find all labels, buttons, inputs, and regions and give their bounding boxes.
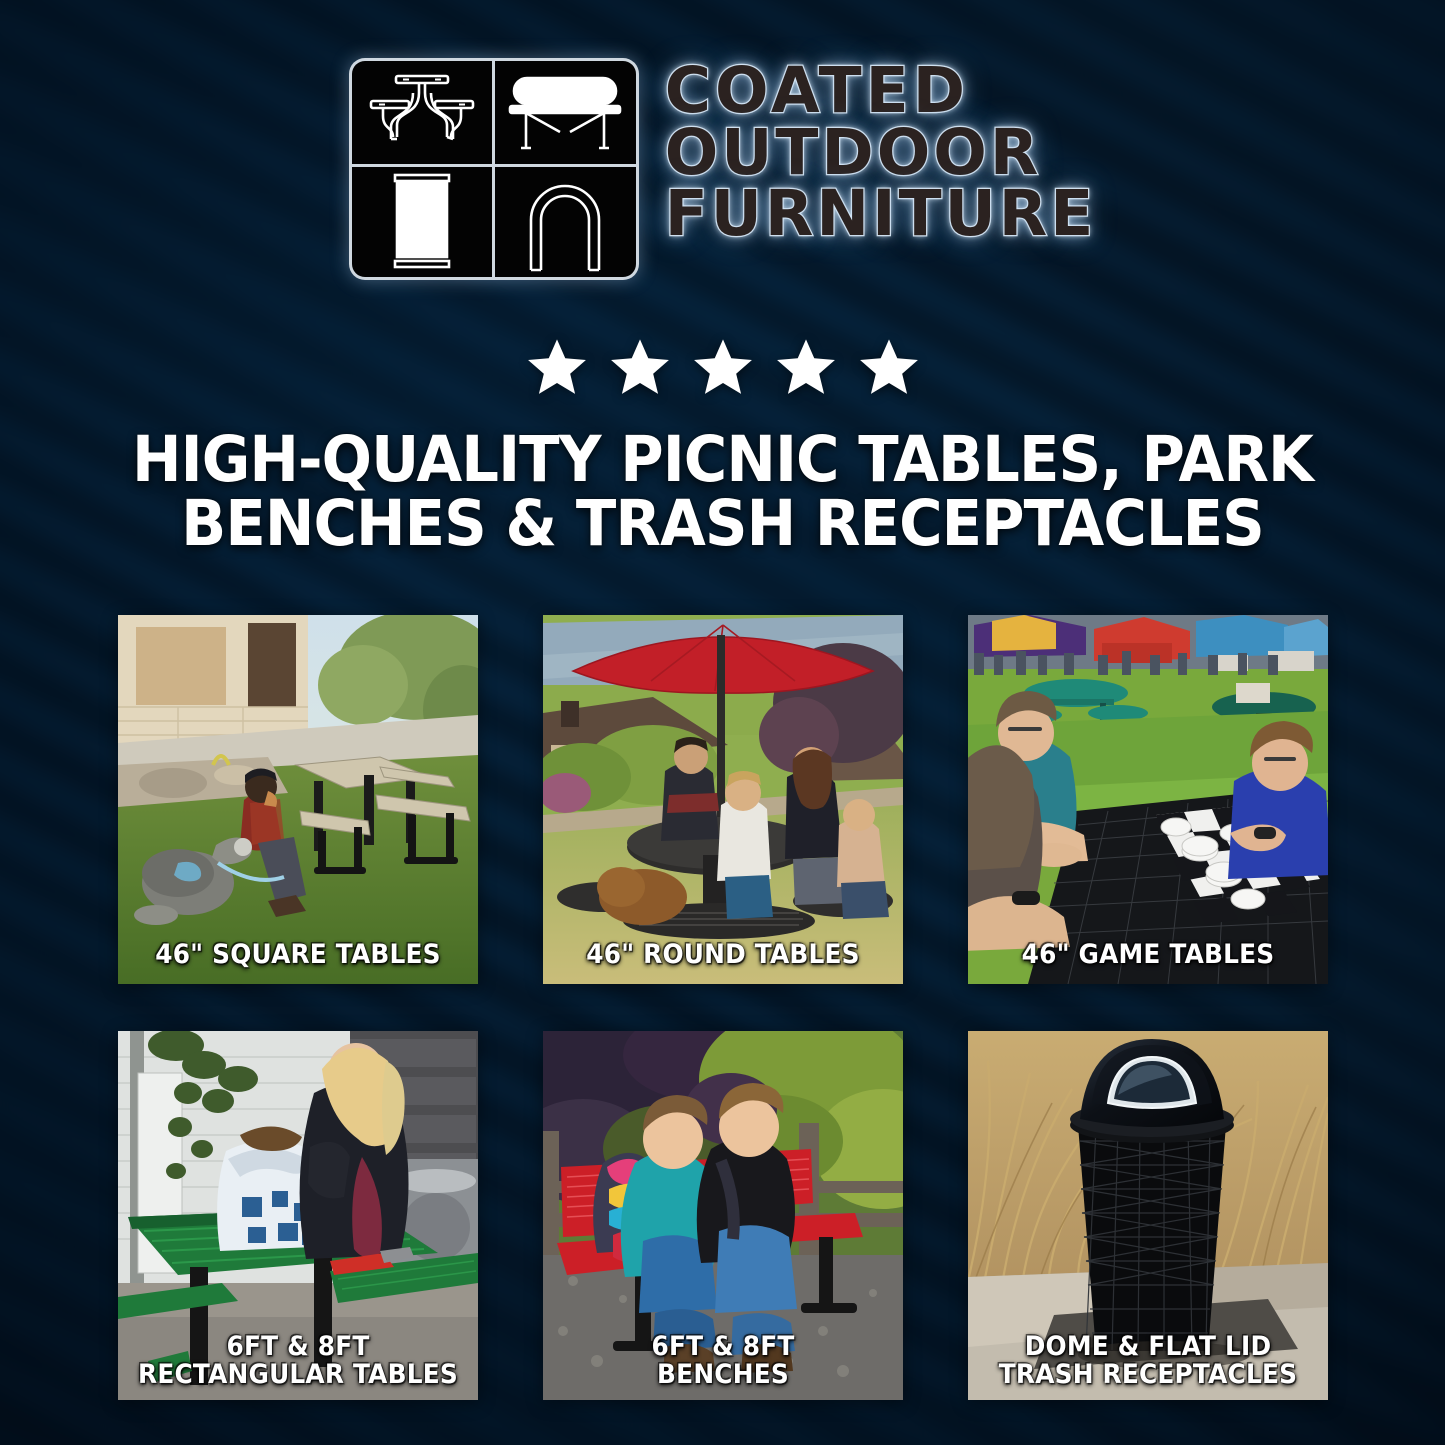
bench-icon <box>495 61 636 164</box>
brand-wordmark: COATED OUTDOOR FURNITURE <box>665 58 1097 245</box>
bike-rack-icon <box>495 167 636 277</box>
product-photo-round-tables <box>543 615 903 984</box>
headline: HIGH-QUALITY PICNIC TABLES, PARK BENCHES… <box>43 428 1401 557</box>
product-caption: 6FT & 8FT RECTANGULAR TABLES <box>132 1333 463 1390</box>
headline-line-2: BENCHES & TRASH RECEPTACLES <box>43 492 1401 556</box>
brand-line-1: COATED <box>665 60 1097 122</box>
star-icon <box>609 336 671 398</box>
trash-receptacle-icon <box>352 167 493 277</box>
caption-line-2: BENCHES <box>557 1361 888 1390</box>
caption-line-1: DOME & FLAT LID <box>982 1333 1313 1362</box>
product-caption: 46" SQUARE TABLES <box>132 941 463 970</box>
brand-header: COATED OUTDOOR FURNITURE <box>0 58 1445 280</box>
product-photo-game-tables <box>968 615 1328 984</box>
star-icon <box>775 336 837 398</box>
product-tile-round-tables[interactable]: 46" ROUND TABLES <box>543 615 903 984</box>
product-grid: 46" SQUARE TABLES <box>118 615 1327 1400</box>
caption-line-1: 46" GAME TABLES <box>982 941 1313 970</box>
brand-line-3: FURNITURE <box>665 183 1097 245</box>
caption-line-2: TRASH RECEPTACLES <box>982 1361 1313 1390</box>
product-photo-square-tables <box>118 615 478 984</box>
caption-line-1: 46" SQUARE TABLES <box>132 941 463 970</box>
caption-line-1: 46" ROUND TABLES <box>557 941 888 970</box>
product-tile-trash-receptacles[interactable]: DOME & FLAT LID TRASH RECEPTACLES <box>968 1031 1328 1400</box>
headline-line-1: HIGH-QUALITY PICNIC TABLES, PARK <box>43 428 1401 492</box>
star-icon <box>858 336 920 398</box>
product-caption: 6FT & 8FT BENCHES <box>557 1333 888 1390</box>
caption-line-1: 6FT & 8FT <box>557 1333 888 1362</box>
promo-banner: COATED OUTDOOR FURNITURE HIGH-QUALITY PI… <box>0 0 1445 1445</box>
product-tile-game-tables[interactable]: 46" GAME TABLES <box>968 615 1328 984</box>
brand-logo-mark <box>349 58 639 280</box>
product-caption: 46" GAME TABLES <box>982 941 1313 970</box>
product-tile-rectangular-tables[interactable]: 6FT & 8FT RECTANGULAR TABLES <box>118 1031 478 1400</box>
caption-line-2: RECTANGULAR TABLES <box>132 1361 463 1390</box>
star-icon <box>526 336 588 398</box>
product-tile-square-tables[interactable]: 46" SQUARE TABLES <box>118 615 478 984</box>
caption-line-1: 6FT & 8FT <box>132 1333 463 1362</box>
star-icon <box>692 336 754 398</box>
brand-line-2: OUTDOOR <box>665 122 1097 184</box>
product-caption: 46" ROUND TABLES <box>557 941 888 970</box>
star-rating <box>0 336 1445 398</box>
product-tile-benches[interactable]: 6FT & 8FT BENCHES <box>543 1031 903 1400</box>
picnic-table-icon <box>352 61 493 164</box>
product-caption: DOME & FLAT LID TRASH RECEPTACLES <box>982 1333 1313 1390</box>
